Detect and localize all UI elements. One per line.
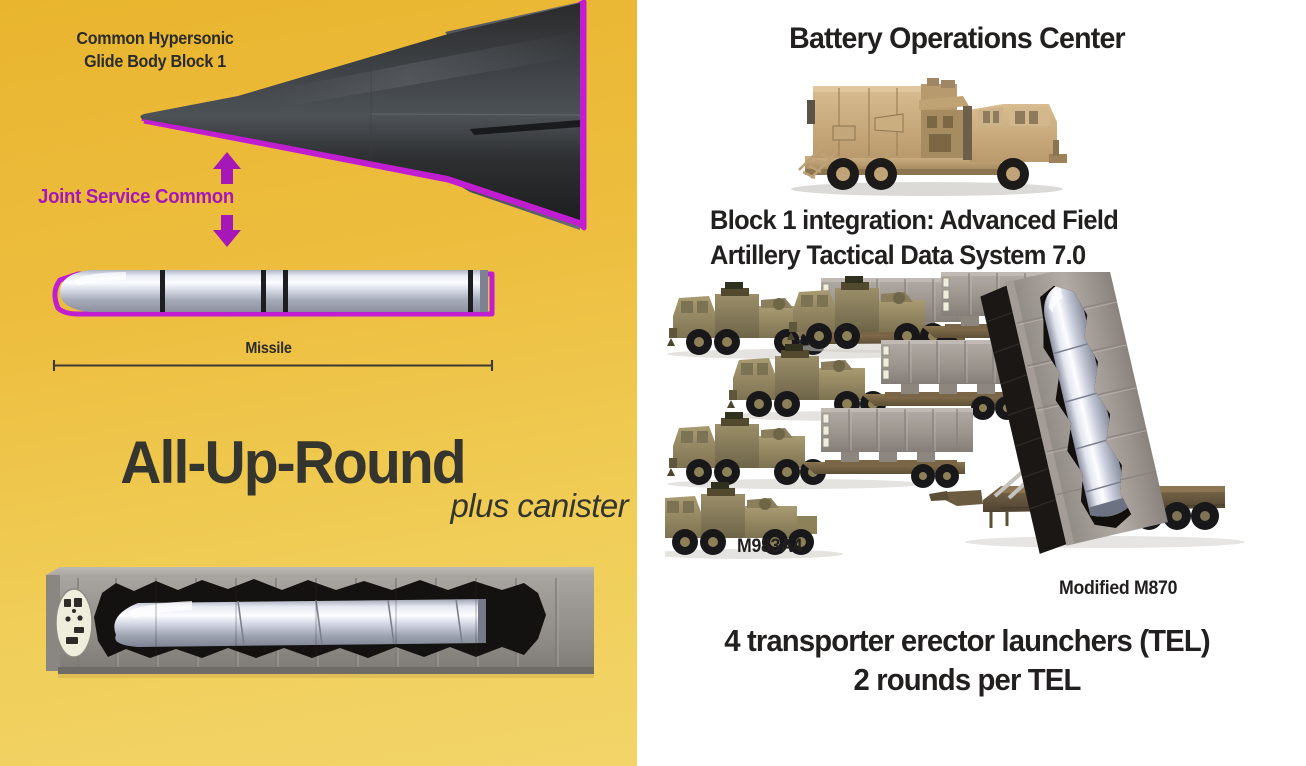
- joint-service-common-label: Joint Service Common: [38, 186, 234, 209]
- m983a4-label: M983A4: [737, 536, 802, 558]
- all-up-round-subtitle: plus canister: [0, 487, 628, 525]
- missile-illustration: [48, 252, 508, 340]
- arrow-up-icon: [212, 152, 242, 184]
- left-yellow-panel: Common Hypersonic Glide Body Block 1 Joi…: [0, 0, 637, 766]
- erected-launch-canister-illustration: [925, 272, 1255, 572]
- glide-body-label-line1: Common Hypersonic: [12, 27, 297, 50]
- tel-summary-text: 4 transporter erector launchers (TEL) 2 …: [669, 622, 1264, 700]
- right-white-panel: Battery Operations Center: [637, 0, 1306, 766]
- battery-operations-center-title: Battery Operations Center: [748, 22, 1166, 56]
- tel-line2: 2 rounds per TEL: [669, 661, 1264, 700]
- dimension-line: [50, 358, 496, 372]
- block1-integration-text: Block 1 integration: Advanced Field Arti…: [710, 203, 1190, 273]
- block1-line1: Block 1 integration: Advanced Field: [710, 203, 1190, 238]
- missile-label: Missile: [27, 340, 510, 358]
- battery-operations-center-truck-illustration: [777, 70, 1072, 198]
- glide-body-label-line2: Glide Body Block 1: [12, 50, 297, 73]
- modified-m870-label: Modified M870: [1059, 578, 1177, 600]
- block1-line2: Artillery Tactical Data System 7.0: [710, 238, 1190, 273]
- arrow-down-icon: [212, 215, 242, 247]
- all-up-round-canister-illustration: [16, 563, 624, 703]
- glide-body-label: Common Hypersonic Glide Body Block 1: [12, 27, 297, 73]
- tel-line1: 4 transporter erector launchers (TEL): [669, 622, 1264, 661]
